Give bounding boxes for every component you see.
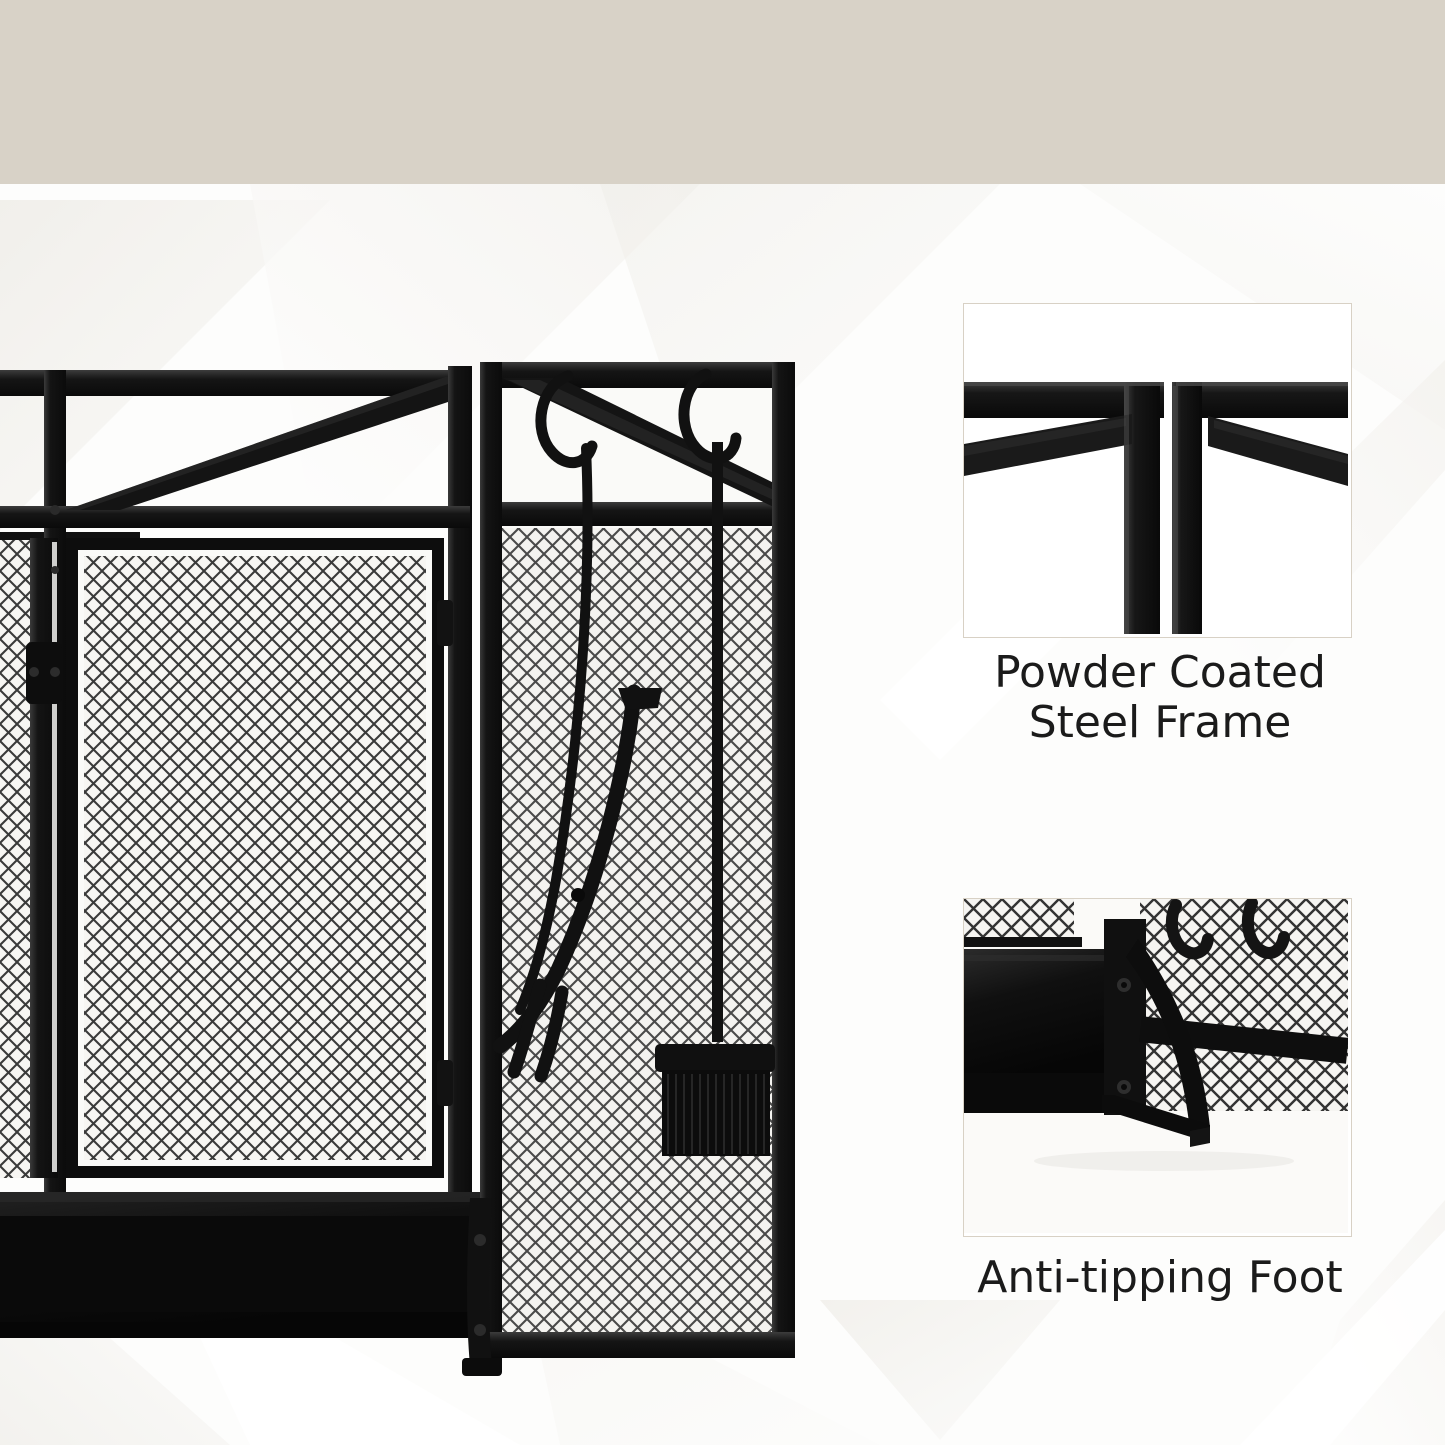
inset-powder-coated-steel-frame <box>963 303 1352 638</box>
base-rail <box>0 1192 485 1338</box>
caption-anti-tipping-foot: Anti-tipping Foot <box>930 1253 1390 1303</box>
hinge <box>26 642 62 704</box>
header-band <box>0 0 1445 184</box>
caption-line-1: Powder Coated <box>930 648 1390 698</box>
product-feature-image: STURDY STRUCTURE <box>0 0 1445 1445</box>
right-panel <box>480 362 795 1372</box>
inset-foot-illustration <box>964 899 1348 1233</box>
main-product-fireplace-screen <box>0 180 860 1445</box>
inset-anti-tipping-foot <box>963 898 1352 1237</box>
caption-line-2: Steel Frame <box>930 698 1390 748</box>
caption-powder-coated-steel-frame: Powder Coated Steel Frame <box>930 648 1390 748</box>
caption-line-1: Anti-tipping Foot <box>930 1253 1390 1303</box>
center-panel <box>0 366 472 1212</box>
inset-frame-illustration <box>964 304 1348 634</box>
